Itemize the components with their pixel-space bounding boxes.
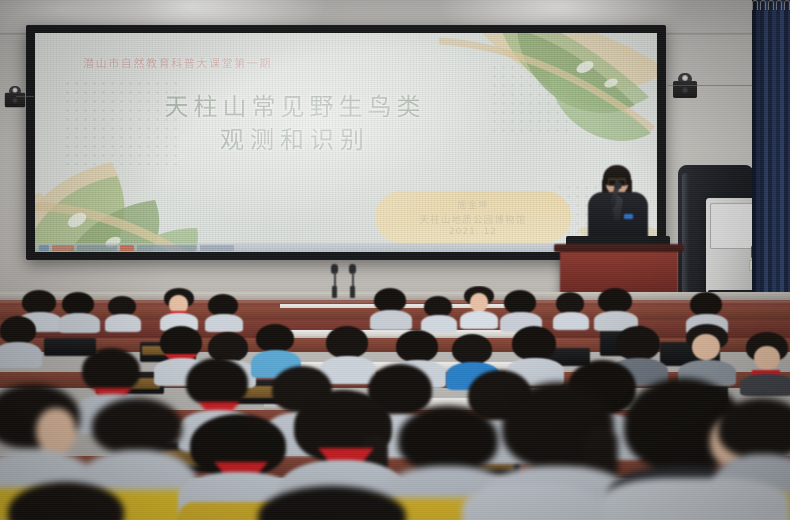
student <box>462 286 496 328</box>
student <box>744 332 790 394</box>
student <box>0 316 38 366</box>
presenter-badge <box>624 214 633 219</box>
taskbar-item-icon[interactable] <box>77 245 117 251</box>
slide-title-line-1: 天柱山常见野生鸟类 <box>35 91 555 124</box>
camera-cable-left <box>16 96 34 97</box>
student <box>162 288 196 328</box>
start-button-icon[interactable] <box>39 245 49 251</box>
student <box>8 482 126 520</box>
taskbar-item-icon[interactable] <box>52 245 74 251</box>
wall-camera-right-icon <box>672 73 698 99</box>
blue-curtain <box>752 0 790 330</box>
camera-cable-right <box>668 85 754 86</box>
student <box>108 296 138 330</box>
student <box>504 290 538 330</box>
student <box>684 324 730 386</box>
slide-credit-date: 2021. 12 <box>449 227 497 237</box>
student <box>600 478 790 520</box>
student <box>208 294 240 330</box>
student <box>598 288 634 328</box>
student <box>424 296 454 330</box>
taskbar-item-icon[interactable] <box>137 245 197 251</box>
screenshot-root: 潜山市自然教育科普大课堂第一期 天柱山常见野生鸟类 观测和识别 施金坤 天柱山地… <box>0 0 790 520</box>
projection-screen-frame: 潜山市自然教育科普大课堂第一期 天柱山常见野生鸟类 观测和识别 施金坤 天柱山地… <box>26 25 666 260</box>
ac-display-panel <box>710 203 756 249</box>
media-player-icon[interactable] <box>120 245 134 251</box>
audience-area <box>0 286 790 520</box>
slide-credit-block: 施金坤 天柱山地质公园博物馆 2021. 12 <box>375 191 571 243</box>
slide-title: 天柱山常见野生鸟类 观测和识别 <box>35 91 555 157</box>
slide-credit-org: 天柱山地质公园博物馆 <box>419 212 526 226</box>
student <box>258 486 408 520</box>
taskbar-item-icon[interactable] <box>200 245 234 251</box>
student <box>62 292 96 330</box>
student <box>374 288 408 328</box>
curtain-rings <box>750 0 790 11</box>
slide-credit-name: 施金坤 <box>457 198 489 211</box>
slide-kicker-text: 潜山市自然教育科普大课堂第一期 <box>83 55 272 71</box>
projection-screen: 潜山市自然教育科普大课堂第一期 天柱山常见野生鸟类 观测和识别 施金坤 天柱山地… <box>35 33 657 252</box>
student <box>462 484 602 520</box>
wall-camera-left-icon <box>4 86 26 108</box>
slide-title-line-2: 观测和识别 <box>35 124 555 157</box>
student <box>556 292 586 328</box>
